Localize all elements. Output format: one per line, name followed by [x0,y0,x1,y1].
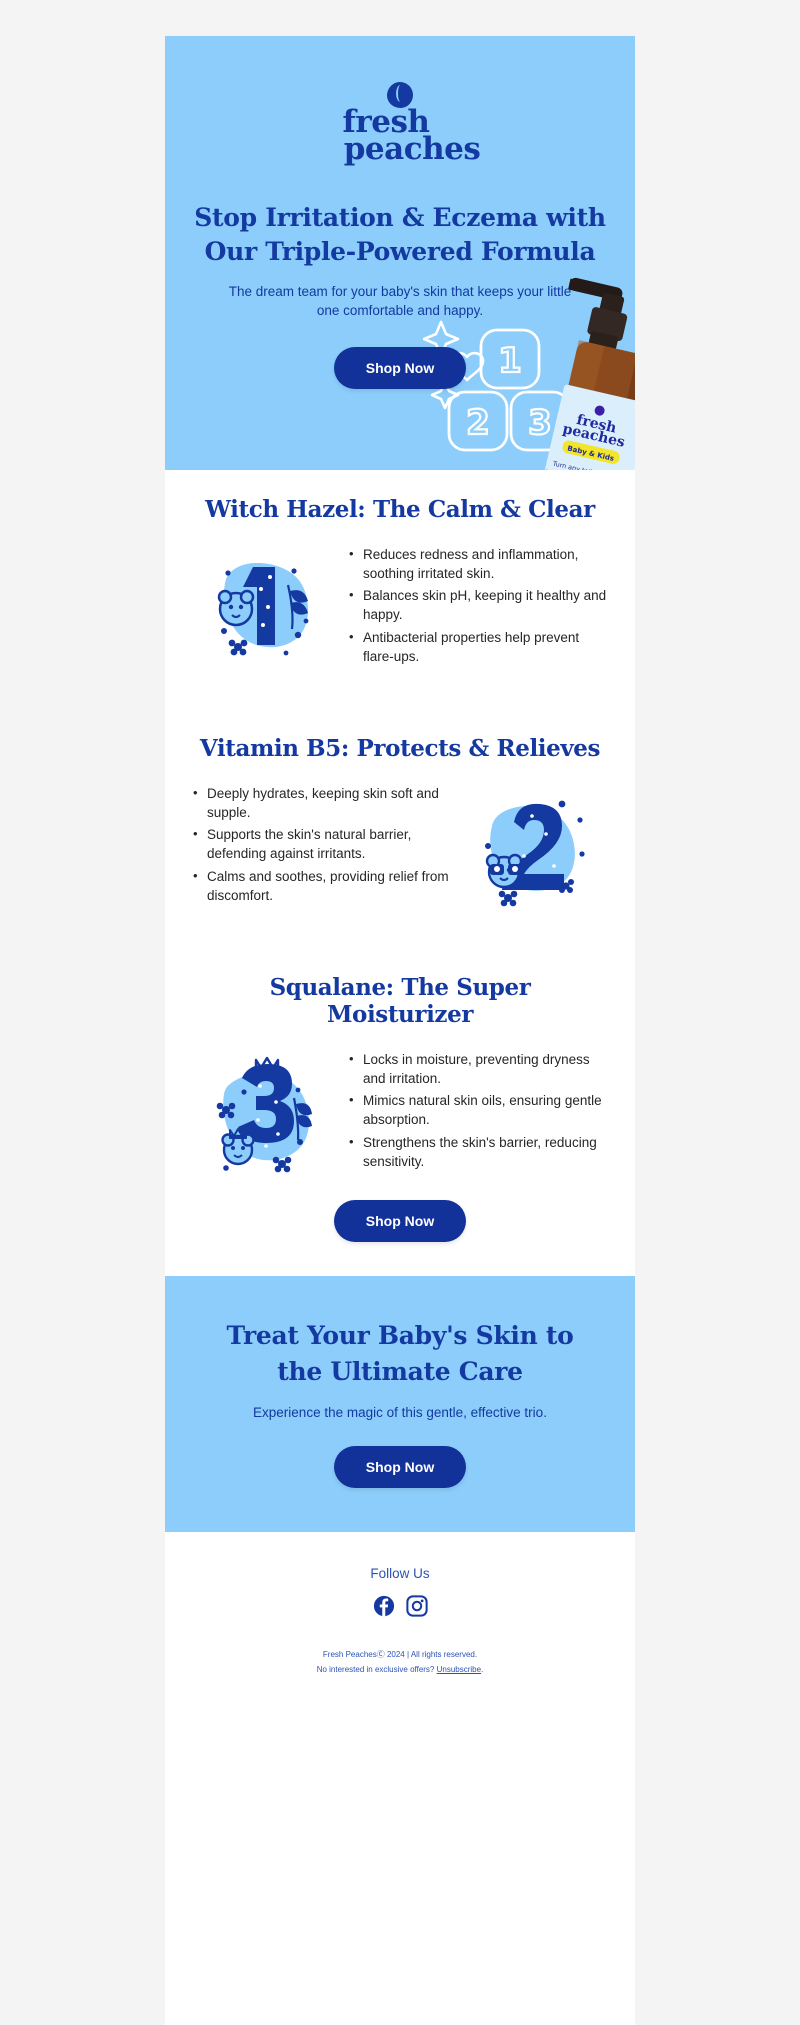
unsubscribe-link[interactable]: Unsubscribe [437,1665,481,1674]
section-body: • Locks in moisture, preventing dryness … [193,1042,607,1182]
list-item: • Strengthens the skin's barrier, reduci… [349,1133,607,1171]
cta-section: Treat Your Baby's Skin to the Ultimate C… [165,1276,635,1532]
bullet-text: Supports the skin's natural barrier, def… [207,825,451,863]
bullet-dot: • [193,784,207,822]
hero-headline-line2: Our Triple-Powered Formula [165,235,635,270]
number-two-illustration [457,776,607,916]
list-item: • Mimics natural skin oils, ensuring gen… [349,1091,607,1129]
list-item: • Reduces redness and inflammation, soot… [349,545,607,583]
bullet-dot: • [349,1133,363,1171]
number-three-illustration [193,1042,343,1182]
bullet-dot: • [349,628,363,666]
section-title: Vitamin B5: Protects & Relieves [193,709,607,762]
squalane-shop-now-button[interactable]: Shop Now [334,1200,466,1242]
bullet-text: Locks in moisture, preventing dryness an… [363,1050,607,1088]
email-viewport: fresh peaches Stop Irritation & Eczema w… [0,0,800,2025]
bullet-dot: • [193,867,207,905]
cta-shop-now-button[interactable]: Shop Now [334,1446,466,1488]
section-squalane: Squalane: The Super Moisturizer [165,916,635,1182]
section-bullet-list: • Reduces redness and inflammation, soot… [349,537,607,669]
section-bullet-list: • Deeply hydrates, keeping skin soft and… [193,776,451,908]
svg-text:3: 3 [528,403,552,443]
facebook-icon[interactable] [373,1595,395,1617]
list-item: • Locks in moisture, preventing dryness … [349,1050,607,1088]
cta-headline-line2: the Ultimate Care [213,1354,587,1390]
squalane-cta-row: Shop Now [165,1182,635,1276]
section-bullet-list: • Locks in moisture, preventing dryness … [349,1042,607,1174]
unsubscribe-suffix: . [481,1665,483,1674]
bullet-text: Mimics natural skin oils, ensuring gentl… [363,1091,607,1129]
bullet-text: Calms and soothes, providing relief from… [207,867,451,905]
hero-headline-line1: Stop Irritation & Eczema with [165,201,635,236]
cta-subtext: Experience the magic of this gentle, eff… [213,1405,587,1420]
bullet-text: Reduces redness and inflammation, soothi… [363,545,607,583]
bullet-text: Deeply hydrates, keeping skin soft and s… [207,784,451,822]
bullet-text: Strengthens the skin's barrier, reducing… [363,1133,607,1171]
copyright-text: Fresh PeachesⒸ 2024 | All rights reserve… [185,1647,615,1662]
cta-headline-line1: Treat Your Baby's Skin to [213,1318,587,1354]
section-witch-hazel: Witch Hazel: The Calm & Clear [165,470,635,677]
section-title: Squalane: The Super Moisturizer [193,948,607,1028]
unsubscribe-prefix: No interested in exclusive offers? [317,1665,437,1674]
bullet-dot: • [349,1091,363,1129]
hero-section: fresh peaches Stop Irritation & Eczema w… [165,36,635,470]
list-item: • Calms and soothes, providing relief fr… [193,867,451,905]
bullet-text: Balances skin pH, keeping it healthy and… [363,586,607,624]
social-links [185,1595,615,1617]
instagram-icon[interactable] [406,1595,428,1617]
cta-button-row: Shop Now [213,1446,587,1488]
hero-cta-row: Shop Now [165,347,635,389]
unsubscribe-line: No interested in exclusive offers? Unsub… [185,1662,615,1677]
legal-text: Fresh PeachesⒸ 2024 | All rights reserve… [185,1647,615,1677]
hero-subtext: The dream team for your baby's skin that… [165,282,635,321]
email-container: fresh peaches Stop Irritation & Eczema w… [165,36,635,2025]
bullet-dot: • [193,825,207,863]
section-vitamin-b5: Vitamin B5: Protects & Relieves [165,677,635,916]
cta-headline: Treat Your Baby's Skin to the Ultimate C… [213,1318,587,1391]
list-item: • Deeply hydrates, keeping skin soft and… [193,784,451,822]
section-body: • Deeply hydrates, keeping skin soft and… [193,776,607,916]
svg-text:2: 2 [466,403,490,443]
section-body: • Reduces redness and inflammation, soot… [193,537,607,677]
list-item: • Supports the skin's natural barrier, d… [193,825,451,863]
number-one-illustration [193,537,343,677]
bullet-dot: • [349,545,363,583]
brand-name-line2: peaches [177,135,635,164]
list-item: • Antibacterial properties help prevent … [349,628,607,666]
brand-logo: fresh peaches [165,82,635,165]
hero-shop-now-button[interactable]: Shop Now [334,347,466,389]
bullet-dot: • [349,586,363,624]
section-title: Witch Hazel: The Calm & Clear [193,470,607,523]
bullet-text: Antibacterial properties help prevent fl… [363,628,607,666]
bullet-dot: • [349,1050,363,1088]
footer: Follow Us Fresh PeachesⒸ 2024 | All righ… [165,1532,635,1705]
hero-headline: Stop Irritation & Eczema with Our Triple… [165,201,635,270]
list-item: • Balances skin pH, keeping it healthy a… [349,586,607,624]
follow-us-label: Follow Us [185,1566,615,1581]
